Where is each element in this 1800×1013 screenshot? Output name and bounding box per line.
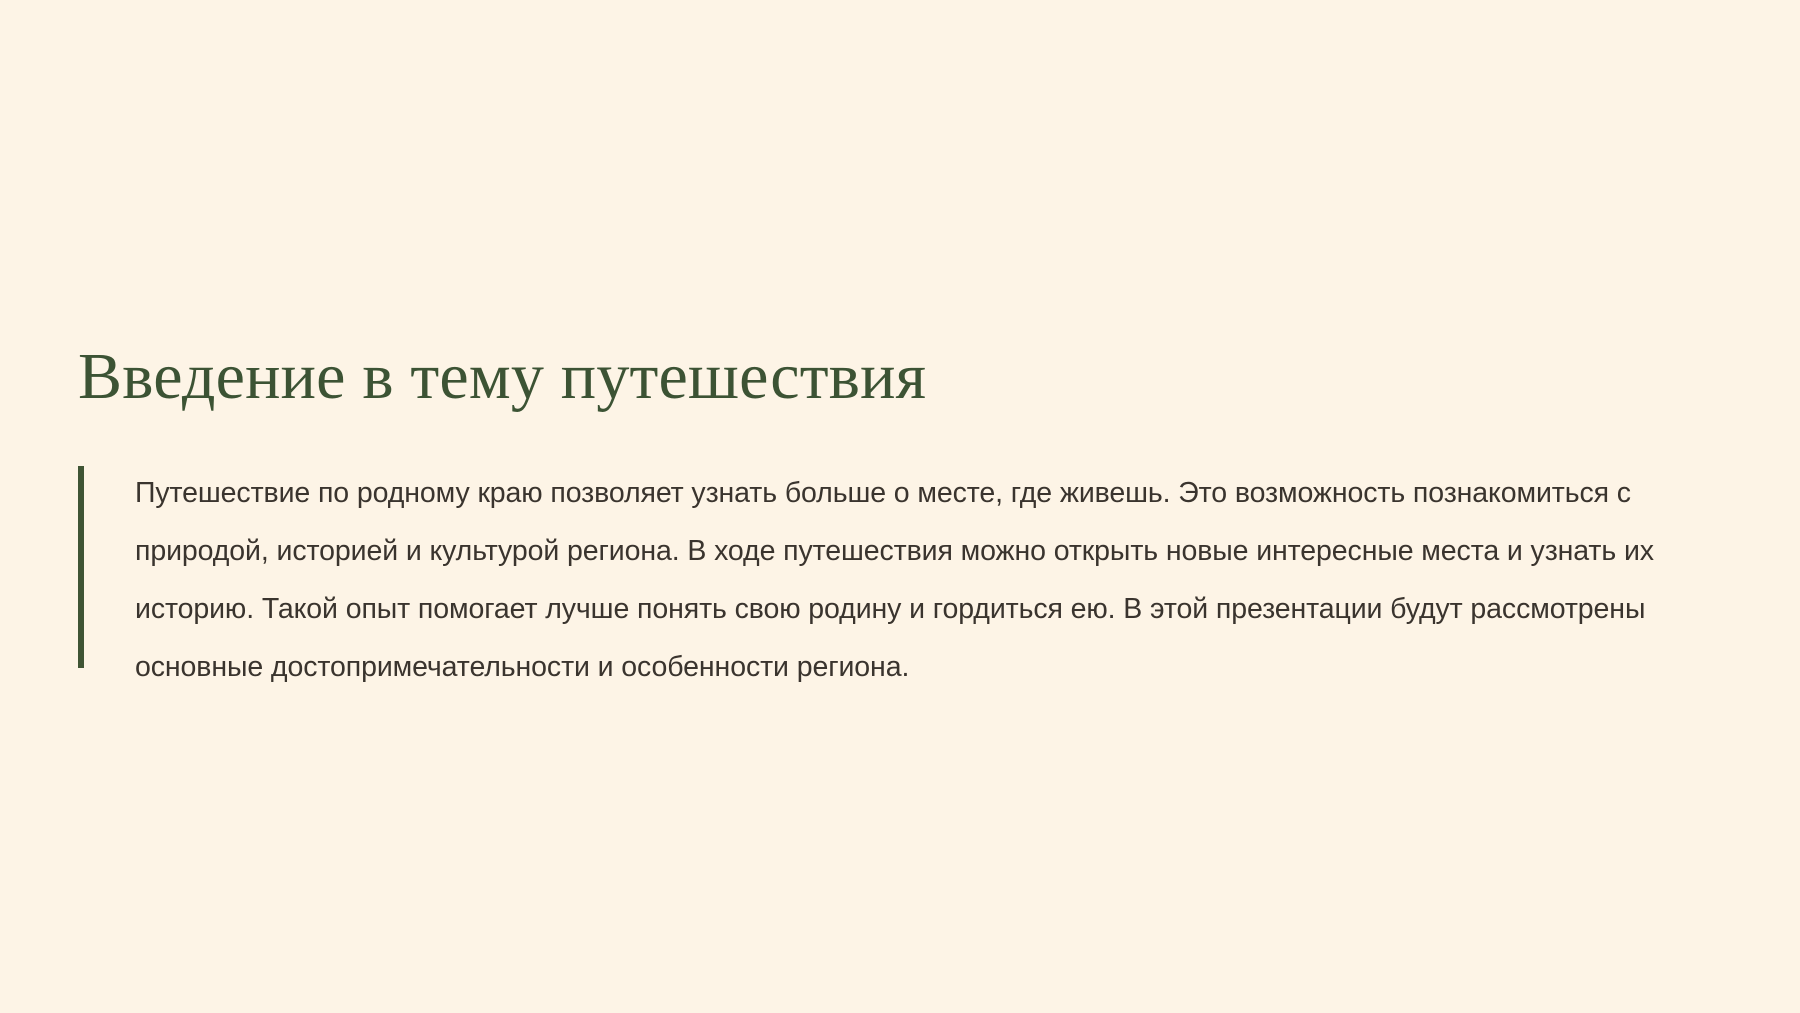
accent-bar [78,466,84,668]
slide-title: Введение в тему путешествия [78,340,1738,414]
body-block: Путешествие по родному краю позволяет уз… [78,464,1738,696]
presentation-slide: Введение в тему путешествия Путешествие … [0,0,1800,1013]
slide-content: Введение в тему путешествия Путешествие … [78,340,1738,696]
slide-body-text: Путешествие по родному краю позволяет уз… [135,464,1738,696]
